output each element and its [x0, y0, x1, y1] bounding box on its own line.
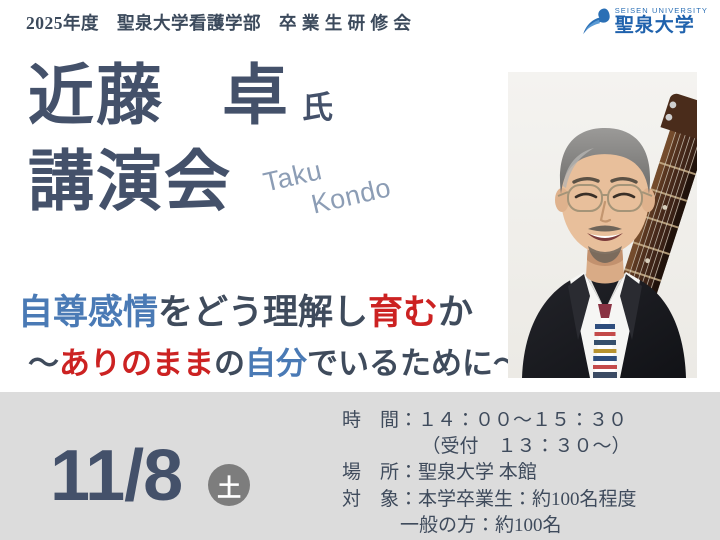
detail-reception: （受付 １３：３０〜） — [342, 434, 637, 460]
seisen-droplet-icon — [583, 6, 610, 36]
speaker-honorific: 氏 — [302, 92, 333, 123]
logo-japanese-name: 聖泉大学 — [615, 16, 708, 35]
event-date: 11/8 — [50, 440, 182, 512]
event-type-heading: 講演会 — [28, 148, 232, 214]
logo-english-name: SEISEN UNIVERSITY — [615, 7, 708, 15]
detail-time: 時 間：１４：００〜１５：３０ — [342, 408, 637, 434]
subtitle-segment: 育む — [368, 293, 438, 332]
detail-venue: 場 所：聖泉大学 本館 — [342, 460, 637, 486]
logo-text-group: SEISEN UNIVERSITY 聖泉大学 — [615, 7, 708, 35]
speaker-portrait — [508, 72, 697, 378]
speaker-name: 近藤 卓 氏 — [28, 62, 333, 128]
detail-audience-primary: 対 象：本学卒業生：約100名程度 — [342, 487, 637, 513]
university-logo: SEISEN UNIVERSITY 聖泉大学 — [583, 6, 708, 36]
speaker-given-name: 卓 — [222, 62, 288, 128]
subtitle-line-1: 自尊感情をどう理解し育むか — [18, 284, 473, 335]
subtitle-segment: をどう理解し — [158, 293, 368, 332]
subtitle-segment: 自尊感情 — [18, 293, 158, 332]
subtitle-segment: 〜 — [28, 346, 59, 381]
subtitle-segment: ありのまま — [59, 346, 214, 381]
page-title: 2025年度 聖泉大学看護学部 卒 業 生 研 修 会 — [26, 10, 411, 35]
detail-audience-secondary: 一般の方：約100名 — [342, 513, 637, 539]
subtitle-segment: か — [438, 293, 473, 332]
event-date-block: 11/8 土 — [50, 440, 250, 512]
speaker-surname: 近藤 — [28, 62, 164, 128]
subtitle-segment: の — [214, 346, 245, 381]
subtitle-line-2: 〜ありのままの自分でいるために〜 — [28, 338, 524, 383]
day-of-week-badge: 土 — [208, 464, 250, 506]
event-details: 時 間：１４：００〜１５：３０ （受付 １３：３０〜） 場 所：聖泉大学 本館 … — [342, 408, 637, 540]
subtitle-segment: でいるために〜 — [307, 346, 524, 381]
subtitle-segment: 自分 — [245, 346, 307, 381]
event-poster: 2025年度 聖泉大学看護学部 卒 業 生 研 修 会 SEISEN UNIVE… — [0, 0, 720, 540]
